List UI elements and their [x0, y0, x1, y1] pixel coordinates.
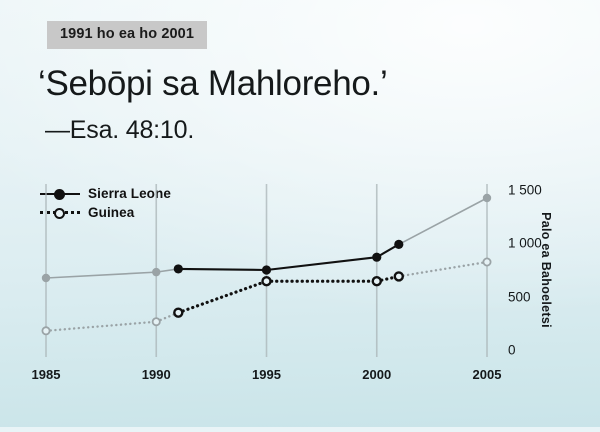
y-axis-title: Palo ea Bahoeletsi — [539, 212, 553, 328]
x-axis-tick-1990: 1990 — [142, 367, 171, 382]
y-axis-tick-0: 0 — [508, 343, 516, 358]
y-axis-tick-500: 500 — [508, 289, 531, 304]
y-axis-tick-1000: 1 000 — [508, 236, 542, 251]
y-axis-tick-1500: 1 500 — [508, 183, 542, 198]
chart-plot-area — [0, 0, 600, 427]
x-axis-tick-2000: 2000 — [362, 367, 391, 382]
x-axis-tick-1985: 1985 — [32, 367, 61, 382]
line-chart: 19851990199520002005 05001 0001 500 Palo… — [0, 0, 600, 427]
x-axis-tick-2005: 2005 — [473, 367, 502, 382]
x-axis-tick-1995: 1995 — [252, 367, 281, 382]
